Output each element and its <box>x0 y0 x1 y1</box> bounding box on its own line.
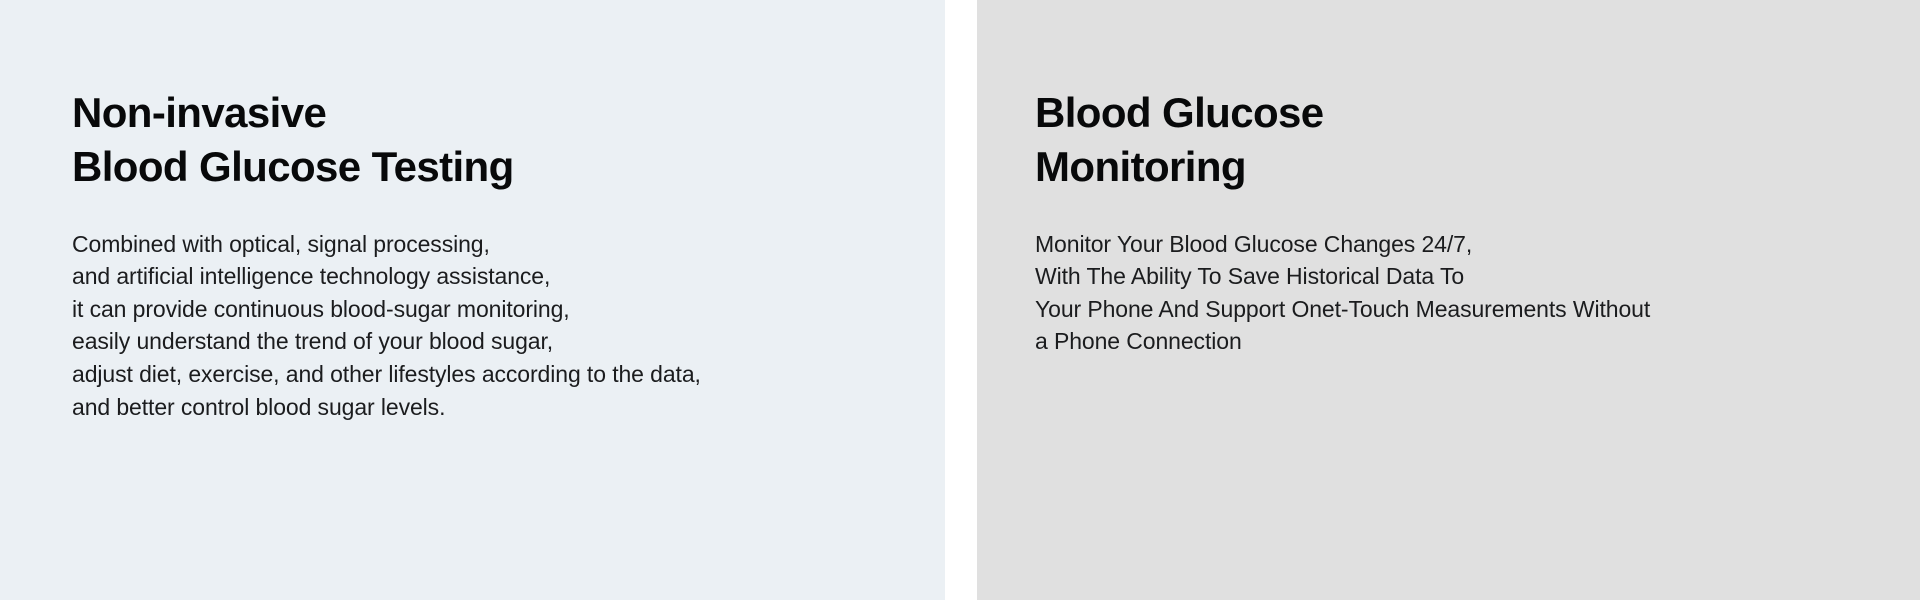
panel-left-body-line-5: adjust diet, exercise, and other lifesty… <box>72 358 945 391</box>
panel-right-body-line-4: a Phone Connection <box>1035 325 1920 358</box>
panel-right-body-line-2: With The Ability To Save Historical Data… <box>1035 260 1920 293</box>
panel-left-heading-line-2: Blood Glucose Testing <box>72 140 945 194</box>
panel-left-heading: Non-invasive Blood Glucose Testing <box>72 86 945 194</box>
panel-right-body: Monitor Your Blood Glucose Changes 24/7,… <box>1035 194 1920 359</box>
panel-right-heading-line-2: Monitoring <box>1035 140 1920 194</box>
panel-right-body-line-3: Your Phone And Support Onet-Touch Measur… <box>1035 293 1920 326</box>
panel-left-heading-line-1: Non-invasive <box>72 86 945 140</box>
feature-board: Non-invasive Blood Glucose Testing Combi… <box>0 0 1920 600</box>
panel-non-invasive-blood-glucose-testing: Non-invasive Blood Glucose Testing Combi… <box>0 0 945 600</box>
panel-left-body-line-6: and better control blood sugar levels. <box>72 391 945 424</box>
panel-left-body: Combined with optical, signal processing… <box>72 194 945 424</box>
panel-left-body-line-3: it can provide continuous blood-sugar mo… <box>72 293 945 326</box>
panel-blood-glucose-monitoring: Blood Glucose Monitoring Monitor Your Bl… <box>977 0 1920 600</box>
panel-left-body-line-2: and artificial intelligence technology a… <box>72 260 945 293</box>
panel-left-body-line-1: Combined with optical, signal processing… <box>72 228 945 261</box>
panel-left-body-line-4: easily understand the trend of your bloo… <box>72 325 945 358</box>
panel-divider-gap <box>945 0 977 600</box>
panel-right-body-line-1: Monitor Your Blood Glucose Changes 24/7, <box>1035 228 1920 261</box>
panel-right-heading: Blood Glucose Monitoring <box>1035 86 1920 194</box>
panel-right-heading-line-1: Blood Glucose <box>1035 86 1920 140</box>
